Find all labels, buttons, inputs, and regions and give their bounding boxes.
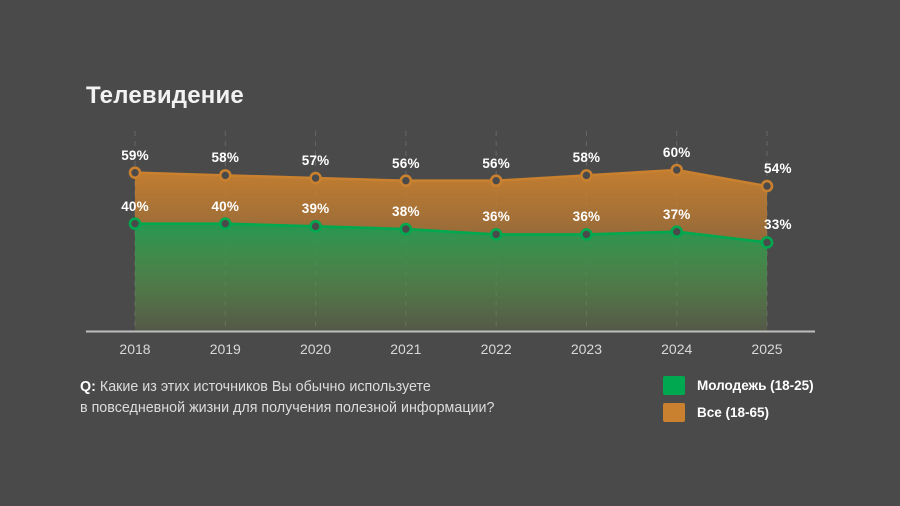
chart-canvas [0,0,900,506]
legend-color-swatch [663,403,685,422]
value-label: 36% [573,209,601,224]
legend-item[interactable]: Все (18-65) [663,401,814,423]
value-label: 56% [392,156,420,171]
value-label: 58% [573,150,601,165]
question-line-2: в повседневной жизни для получения полез… [80,400,494,416]
x-tick-label: 2018 [119,341,150,357]
chart-legend: Молодежь (18-25)Все (18-65) [663,374,814,428]
value-label: 39% [302,201,330,216]
chart-page: Телевидение 59%58%57%56%56%58%60%54%40%4… [0,0,900,506]
page-title: Телевидение [86,82,244,110]
value-label: 60% [663,145,691,160]
value-label: 56% [482,156,510,171]
series-areas [135,170,767,331]
question-prefix: Q: [80,379,96,395]
value-label: 37% [663,207,691,222]
legend-label: Молодежь (18-25) [697,378,814,393]
x-tick-label: 2025 [751,341,782,357]
value-label: 36% [482,209,510,224]
value-label: 59% [121,148,149,163]
value-label: 58% [211,150,239,165]
x-tick-label: 2024 [661,341,692,357]
legend-item[interactable]: Молодежь (18-25) [663,374,814,396]
value-label: 54% [764,161,792,176]
question-line-1: Какие из этих источников Вы обычно испол… [96,379,431,395]
value-label: 40% [121,199,149,214]
value-label: 33% [764,217,792,232]
question-text: Q: Какие из этих источников Вы обычно ис… [80,377,494,419]
x-tick-label: 2022 [481,341,512,357]
x-tick-label: 2021 [390,341,421,357]
value-label: 40% [211,199,239,214]
value-label: 38% [392,204,420,219]
legend-label: Все (18-65) [697,405,769,420]
x-tick-label: 2019 [210,341,241,357]
legend-color-swatch [663,376,685,395]
value-label: 57% [302,153,330,168]
x-tick-label: 2023 [571,341,602,357]
x-tick-label: 2020 [300,341,331,357]
